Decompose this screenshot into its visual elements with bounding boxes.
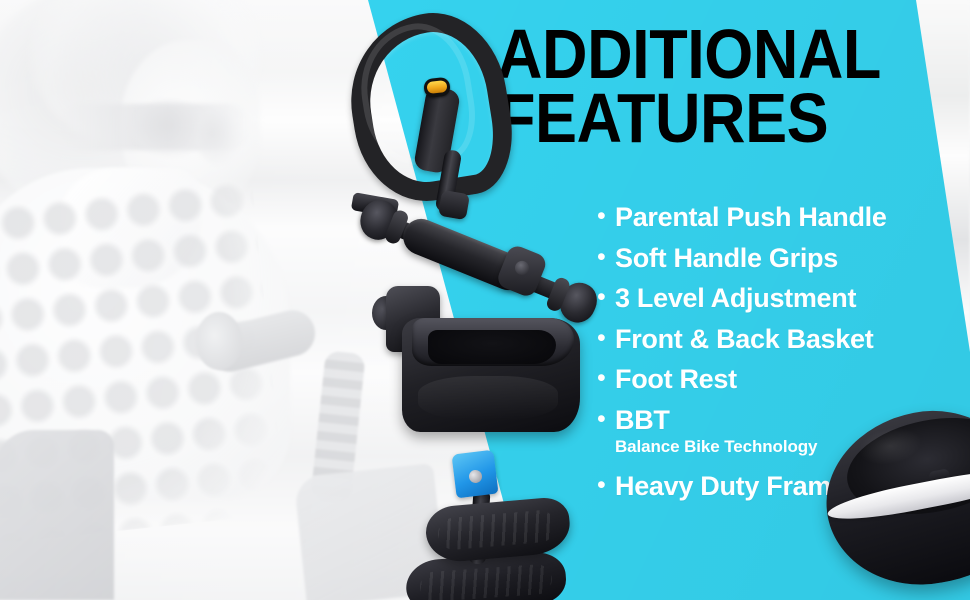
feature-label: Front & Back Basket <box>615 326 873 354</box>
bullet-icon: • <box>597 407 610 432</box>
feature-label: BBT <box>615 407 670 435</box>
feature-label: Heavy Duty Frame <box>615 473 846 501</box>
feature-label: 3 Level Adjustment <box>615 285 856 313</box>
page-title: ADDITIONAL FEATURES <box>497 22 884 151</box>
list-item: • Soft Handle Grips <box>597 245 967 273</box>
bullet-icon: • <box>597 473 610 498</box>
list-item: • Front & Back Basket <box>597 326 967 354</box>
list-item: • 3 Level Adjustment <box>597 285 967 313</box>
product-feature-banner: ADDITIONAL FEATURES • Parental Push Hand… <box>0 0 970 600</box>
front-basket-highlight <box>418 376 558 420</box>
list-item: • Parental Push Handle <box>597 204 967 232</box>
bullet-icon: • <box>597 326 610 351</box>
feature-label: Parental Push Handle <box>615 204 887 232</box>
front-basket-cavity <box>428 330 556 364</box>
list-item: • Foot Rest <box>597 366 967 394</box>
feature-label: Foot Rest <box>615 366 737 394</box>
bullet-icon: • <box>597 204 610 229</box>
feature-label: Soft Handle Grips <box>615 245 838 273</box>
bullet-icon: • <box>597 366 610 391</box>
